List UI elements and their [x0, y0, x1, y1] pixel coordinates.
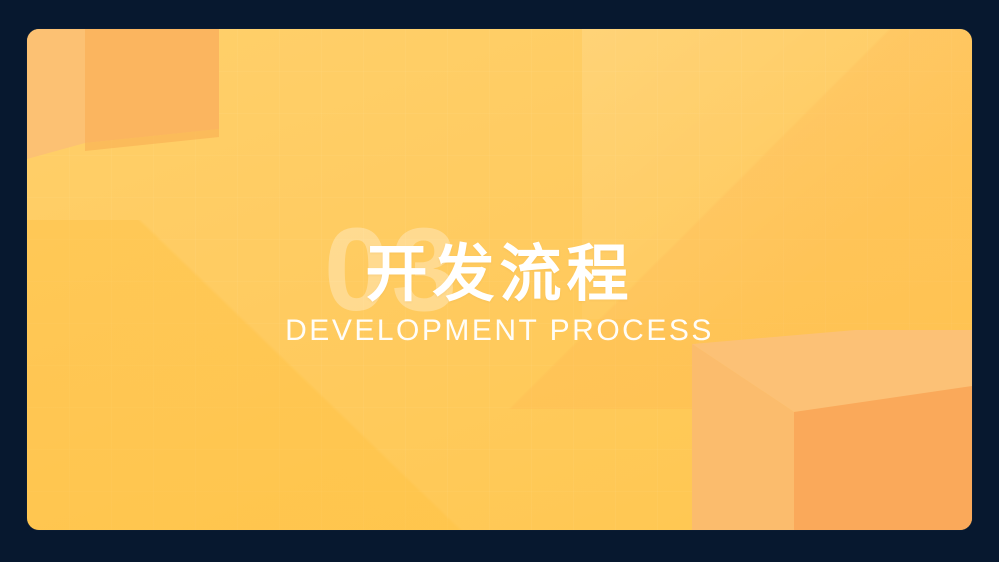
- title-block: 03 开发流程 DEVELOPMENT PROCESS: [27, 215, 972, 347]
- cube-3d-icon-top-left: [27, 29, 227, 169]
- grid-texture-overlay: [27, 29, 972, 530]
- section-number-watermark: 03: [27, 211, 864, 329]
- page-title: 开发流程: [27, 215, 972, 306]
- diagonal-band-lower-left: [27, 220, 747, 530]
- slide-card: 03 开发流程 DEVELOPMENT PROCESS: [27, 29, 972, 530]
- page-subtitle: DEVELOPMENT PROCESS: [27, 314, 972, 347]
- diagonal-band-upper-right: [412, 29, 972, 409]
- cube-3d-icon-bottom-right: [662, 330, 972, 530]
- diagonal-highlight-top: [582, 29, 972, 319]
- presentation-stage: 03 开发流程 DEVELOPMENT PROCESS: [0, 0, 999, 562]
